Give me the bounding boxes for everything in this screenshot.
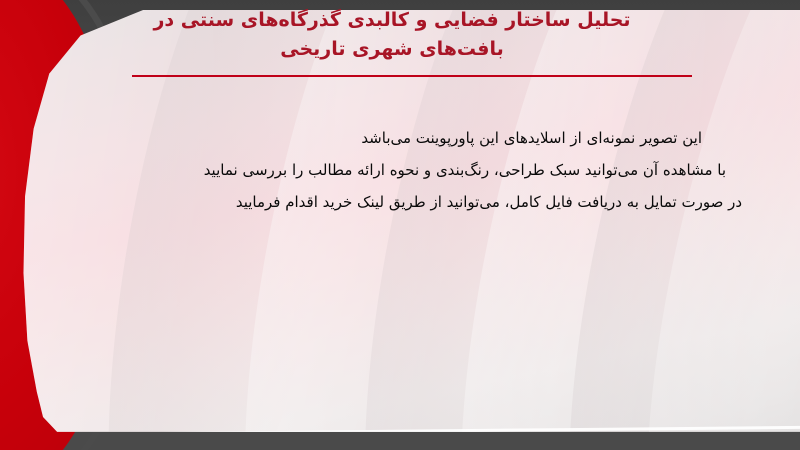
title-underline-rule xyxy=(132,75,692,77)
content-panel xyxy=(18,10,800,434)
body-line-1: این تصویر نمونه‌ای از اسلایدهای این پاور… xyxy=(52,122,742,154)
body-line-2: با مشاهده آن می‌توانید سبک طراحی، رنگ‌بن… xyxy=(52,154,742,186)
slide-title-line-2: بافت‌های شهری تاریخی xyxy=(92,35,692,64)
slide-title-line-1: تحلیل ساختار فضایی و کالبدی گذرگاه‌های س… xyxy=(92,6,692,35)
slide-title: تحلیل ساختار فضایی و کالبدی گذرگاه‌های س… xyxy=(92,6,692,64)
slide-canvas: تحلیل ساختار فضایی و کالبدی گذرگاه‌های س… xyxy=(0,0,800,450)
slide-body-text: این تصویر نمونه‌ای از اسلایدهای این پاور… xyxy=(52,122,742,218)
body-line-3: در صورت تمایل به دریافت فایل کامل، می‌تو… xyxy=(52,186,742,218)
